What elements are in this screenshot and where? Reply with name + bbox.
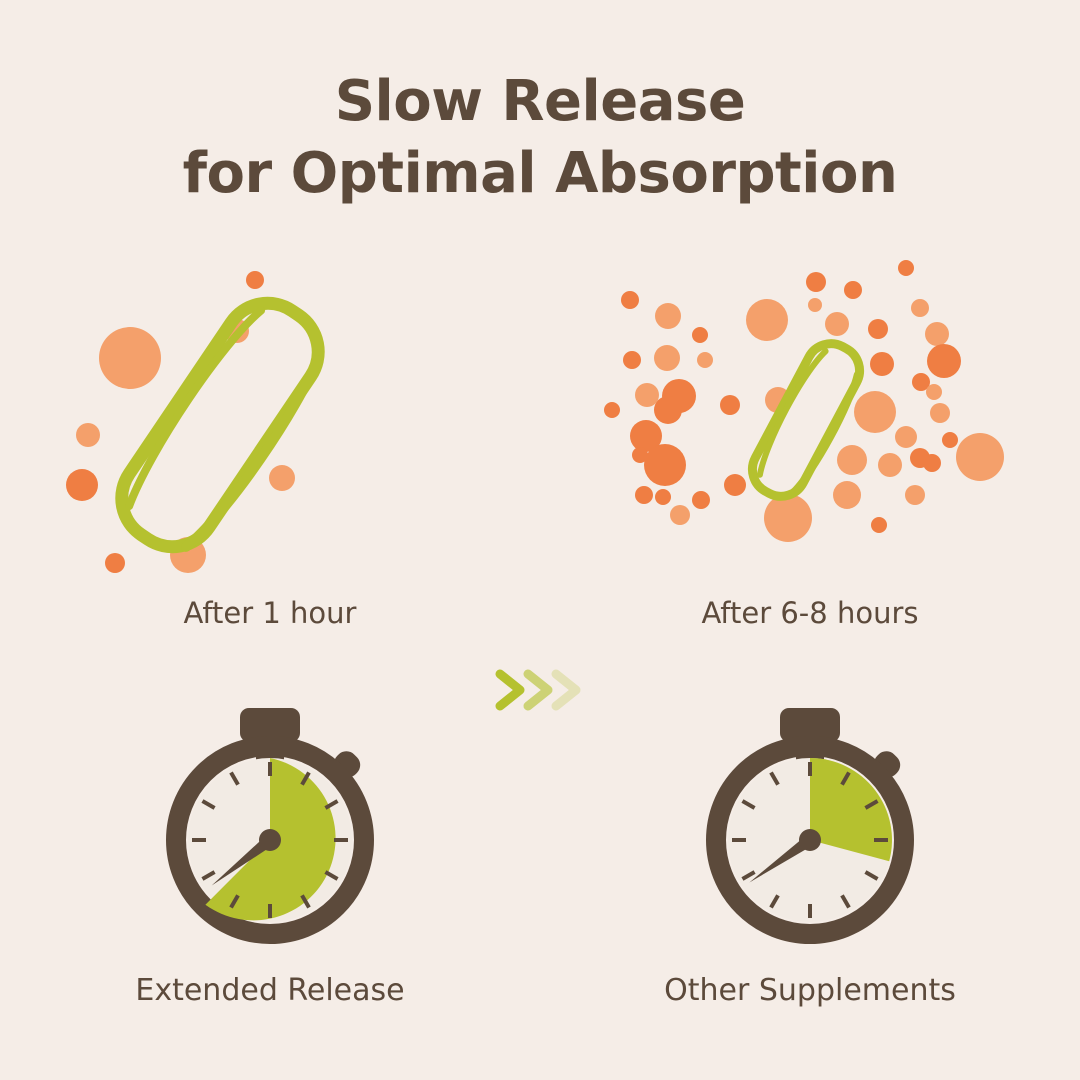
caption-extended-release: Extended Release	[70, 972, 470, 1010]
infographic-poster: Slow Release for Optimal Absorption	[0, 0, 1080, 1080]
caption-after-6-8-hours: After 6-8 hours	[610, 595, 1010, 631]
particle-group-sparse	[66, 271, 295, 573]
pill-illustration-dissolving	[610, 250, 1010, 570]
stopwatch-icon-other	[610, 700, 1010, 950]
pill-capsule-outline-small	[744, 335, 871, 506]
caption-other-supplements: Other Supplements	[610, 972, 1010, 1010]
watch-other-supplements: Other Supplements	[610, 700, 1010, 1040]
title-line-1: Slow Release	[0, 66, 1080, 138]
stopwatch-hub	[259, 829, 281, 851]
stopwatch-comparison-row: Extended Release	[0, 700, 1080, 1040]
title-line-2: for Optimal Absorption	[0, 138, 1080, 210]
pill-illustration-intact	[70, 250, 470, 570]
particle-group-dense	[604, 260, 1004, 542]
stopwatch-hub	[799, 829, 821, 851]
stopwatch-icon-extended	[70, 700, 470, 950]
watch-extended-release: Extended Release	[70, 700, 470, 1040]
scene-after-1-hour: After 1 hour	[70, 250, 470, 670]
scene-after-6-8-hours: After 6-8 hours	[610, 250, 1010, 670]
pill-capsule-outline	[105, 286, 339, 566]
page-title: Slow Release for Optimal Absorption	[0, 66, 1080, 210]
pill-comparison-row: After 1 hour	[0, 250, 1080, 670]
caption-after-1-hour: After 1 hour	[70, 595, 470, 631]
